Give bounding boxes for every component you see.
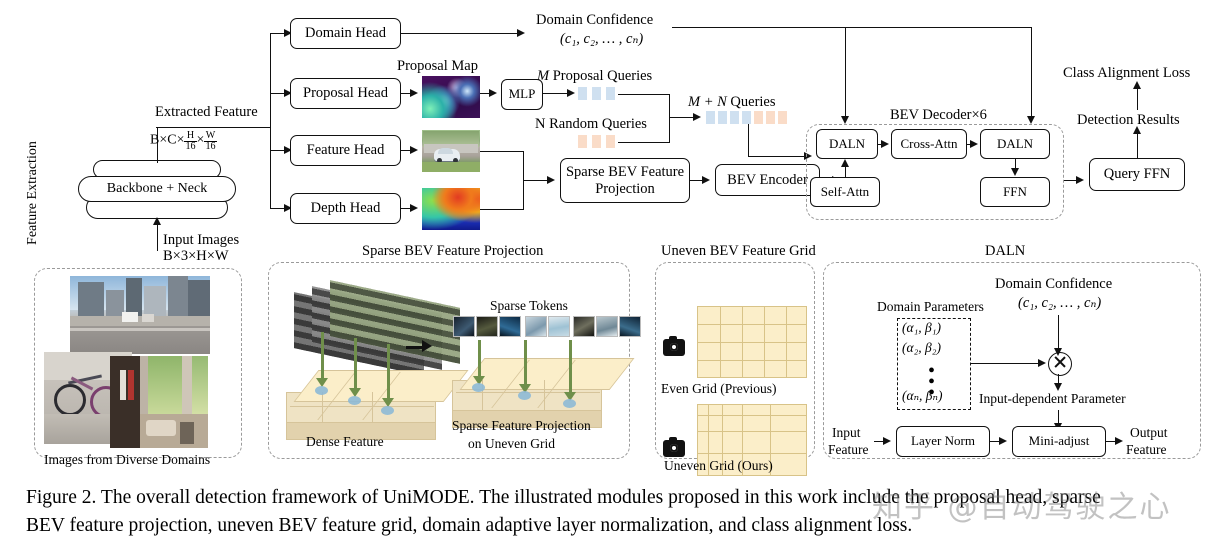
output-feature-arrowhead (1115, 437, 1123, 445)
token-mn-proposal (718, 111, 727, 124)
feature-thumb-arrowhead (410, 146, 418, 154)
proposal-queries-m: M (537, 68, 549, 84)
input-to-backbone-arrowhead (153, 217, 161, 225)
dims-mid: × (197, 133, 205, 148)
projection-drop-2 (348, 396, 361, 405)
token-mn-random (778, 111, 787, 124)
input-images-label: Input Images (163, 232, 239, 249)
domain-parameter-n: (αₙ, βₙ) (902, 388, 943, 404)
input-dependent-parameter-label: Input-dependent Parameter (979, 391, 1126, 407)
queryffn-arrowhead (1076, 176, 1084, 184)
extracted-feature-label: Extracted Feature (155, 104, 258, 121)
confidence-to-daln1-line (845, 27, 846, 119)
domain-head-label: Domain Head (305, 25, 386, 41)
extracted-feature-h-line (156, 127, 270, 128)
confidence-daln2-arrowhead (1027, 116, 1035, 124)
domain-parameter-1: (α₁, β₁) (902, 320, 941, 336)
sparse-bev-projection-line2: Projection (595, 181, 655, 197)
even-grid-label: Even Grid (Previous) (661, 381, 776, 397)
sparse-projection-arrow-2 (524, 340, 527, 386)
token-mn-proposal (706, 111, 715, 124)
domain-parameters-title: Domain Parameters (877, 299, 984, 315)
daln-domain-confidence-title: Domain Confidence (995, 276, 1112, 293)
sparse-token (499, 316, 521, 337)
token-proposal (606, 87, 615, 100)
detection-results-label: Detection Results (1077, 112, 1180, 129)
projection-drop-1 (315, 386, 328, 395)
crossattn-arrowhead (881, 140, 889, 148)
daln2-ffn-arrowhead (1011, 168, 1019, 176)
layernorm-arrowhead (883, 437, 891, 445)
sparse-token (619, 316, 641, 337)
camera-icon-even (663, 339, 685, 356)
output-feature-line1: Output (1130, 425, 1168, 441)
sparse-drop-2 (518, 391, 531, 400)
confidence-bus-line (672, 27, 1032, 28)
proposal-head-box[interactable]: Proposal Head (290, 78, 401, 109)
depth-thumb-arrowhead (410, 204, 418, 212)
domain-confidence-arrowhead (517, 29, 525, 37)
random-merge-line (618, 142, 670, 143)
confidence-to-daln2-line (1031, 27, 1032, 119)
mlp-arrowhead (489, 89, 497, 97)
token-mn-random (766, 111, 775, 124)
dense-to-sparse-arrowhead (422, 340, 432, 352)
heads-trunk-line (270, 33, 271, 208)
sparse-token (476, 316, 498, 337)
figure-canvas: Feature Extraction Backbone + Neck Input… (0, 0, 1226, 547)
daln-1-box[interactable]: DALN (816, 129, 878, 159)
mini-adjust-label: Mini-adjust (1029, 434, 1090, 449)
projection-drop-3 (381, 406, 394, 415)
feature-head-label: Feature Head (307, 142, 385, 158)
sparse-projection-caption-line1: Sparse Feature Projection (452, 418, 591, 434)
daln-2-box[interactable]: DALN (980, 129, 1050, 159)
daln-2-label: DALN (997, 137, 1033, 152)
uneven-grid-label: Uneven Grid (Ours) (664, 458, 773, 474)
cross-attn-label: Cross-Attn (900, 137, 957, 152)
mn-to-decoder-v (748, 124, 749, 156)
token-mn-proposal (730, 111, 739, 124)
mn-queries-arrowhead (693, 113, 701, 121)
dense-feature-label: Dense Feature (306, 434, 384, 450)
sparse-token (548, 316, 570, 337)
proposal-queries-label: M Proposal Queries (537, 68, 652, 85)
token-proposal (592, 87, 601, 100)
layer-norm-label: Layer Norm (911, 434, 975, 449)
sparse-token (573, 316, 595, 337)
sparse-bev-projection-box[interactable]: Sparse BEV Feature Projection (560, 158, 690, 203)
class-alignment-loss-label: Class Alignment Loss (1063, 65, 1190, 82)
domain-head-box[interactable]: Domain Head (290, 18, 401, 49)
mlp-label: MLP (509, 87, 536, 102)
feature-thumb-out-line (480, 151, 524, 152)
merge-to-sparse-line (523, 180, 549, 181)
proposal-queries-arrowhead (567, 89, 575, 97)
miniadjust-arrowhead (999, 437, 1007, 445)
input-dims-text: B×3×H×W (163, 248, 229, 264)
bev-decoder-title: BEV Decoder×6 (890, 107, 987, 124)
camera-icon-uneven (663, 440, 685, 457)
token-random (606, 135, 615, 148)
zhihu-watermark: 知乎 @自动驾驶之心 (872, 482, 1172, 526)
sparse-token (453, 316, 475, 337)
results-to-loss-line (1137, 88, 1138, 110)
token-proposal (578, 87, 587, 100)
mn-to-decoder-h (748, 156, 806, 157)
self-attn-label: Self-Attn (821, 185, 869, 200)
query-ffn-label: Query FFN (1104, 166, 1170, 182)
dims-prefix: B×C× (150, 133, 184, 148)
feature-head-box[interactable]: Feature Head (290, 135, 401, 166)
depth-thumb-out-line (480, 209, 524, 210)
proposal-map-thumbnail (422, 76, 480, 118)
mini-adjust-box[interactable]: Mini-adjust (1012, 426, 1106, 457)
input-images-dims: B×3×H×W (163, 248, 229, 265)
sparse-tokens-label: Sparse Tokens (490, 298, 568, 314)
selfattn-daln1-arrowhead (841, 159, 849, 167)
dense-projection-arrow-3 (387, 344, 390, 400)
indoor-room-image (110, 356, 208, 448)
proposal-map-label: Proposal Map (397, 58, 478, 75)
cross-attn-box[interactable]: Cross-Attn (891, 129, 967, 159)
depth-head-label: Depth Head (311, 200, 381, 216)
street-scene-image (70, 276, 210, 354)
domain-head-to-confidence-line (401, 33, 519, 34)
dense-feature-planes (294, 292, 464, 372)
daln-domain-confidence-values: (c₁, c₂, … , cₙ) (1018, 295, 1101, 312)
query-ffn-box[interactable]: Query FFN (1089, 158, 1185, 191)
extracted-feature-dims: B×C×H16×W16 (150, 131, 217, 153)
token-mn-random (754, 111, 763, 124)
dense-projection-arrow-1 (321, 332, 324, 380)
class-alignment-loss-arrowhead (1133, 81, 1141, 89)
sparse-panel-title: Sparse BEV Feature Projection (362, 243, 543, 260)
diverse-domains-caption: Images from Diverse Domains (44, 452, 210, 468)
domain-confidence-title: Domain Confidence (536, 12, 653, 29)
sparse-token (525, 316, 547, 337)
depth-head-box[interactable]: Depth Head (290, 193, 401, 224)
multiply-operator-icon (1048, 352, 1072, 376)
input-feature-line2: Feature (828, 442, 868, 458)
mn-queries-text: Queries (727, 94, 776, 110)
dims-den2: 16 (204, 142, 216, 152)
token-mn-proposal (742, 111, 751, 124)
token-random (578, 135, 587, 148)
layer-norm-box[interactable]: Layer Norm (896, 426, 990, 457)
token-random (592, 135, 601, 148)
random-queries-label: N Random Queries (535, 116, 647, 133)
even-grid (697, 306, 807, 378)
grid-panel-title: Uneven BEV Feature Grid (661, 243, 816, 260)
sparse-projection-arrow-3 (569, 340, 572, 394)
input-to-backbone-line (157, 224, 158, 251)
proposal-head-label: Proposal Head (303, 85, 388, 101)
mlp-to-queries-line (543, 93, 569, 94)
confidence-to-otimes-line (1058, 315, 1059, 351)
backbone-neck-box[interactable]: Backbone + Neck (78, 176, 236, 202)
selfattn-to-daln1-line (845, 166, 846, 178)
confidence-daln1-arrowhead (841, 116, 849, 124)
sparse-bev-projection-line1: Sparse BEV Feature (566, 164, 684, 180)
proposal-queries-text: Proposal Queries (549, 68, 652, 84)
feature-head-thumbnail (422, 130, 480, 172)
domain-parameter-2: (α₂, β₂) (902, 340, 941, 356)
dims-den1: 16 (184, 142, 196, 152)
daln-1-label: DALN (829, 137, 865, 152)
bev-encoder-box[interactable]: BEV Encoder (715, 164, 820, 196)
sparse-projection-caption-line2: on Uneven Grid (468, 436, 555, 452)
output-feature-line2: Feature (1126, 442, 1166, 458)
sparse-drop-1 (472, 383, 485, 392)
params-otimes-arrowhead (1038, 359, 1046, 367)
merge-to-mn-line (669, 117, 695, 118)
sparse-projection-arrow-1 (478, 340, 481, 378)
daln-panel-title: DALN (985, 243, 1025, 260)
input-feature-line1: Input (832, 425, 861, 441)
bev-encoder-arrowhead (702, 176, 710, 184)
bev-encoder-label: BEV Encoder (727, 172, 808, 188)
proposal-map-arrowhead (410, 89, 418, 97)
sparse-proj-arrowhead (547, 176, 555, 184)
params-to-otimes-line (971, 363, 1040, 364)
sparse-drop-3 (563, 399, 576, 408)
otimes-param-arrowhead (1054, 383, 1062, 391)
mn-queries-label: M + N Queries (688, 94, 776, 111)
mn-queries-mn: M + N (688, 94, 727, 110)
depth-head-thumbnail (422, 188, 480, 230)
backbone-neck-label: Backbone + Neck (107, 181, 207, 197)
feature-extraction-side-label: Feature Extraction (25, 113, 41, 273)
domain-confidence-values: (c₁, c₂, … , cₙ) (560, 31, 643, 48)
ffn-box[interactable]: FFN (980, 177, 1050, 207)
daln2-arrowhead (970, 140, 978, 148)
ffn-label: FFN (1003, 185, 1027, 200)
proposal-merge-line (618, 94, 670, 95)
queryffn-to-results-line (1137, 133, 1138, 159)
sparse-token (596, 316, 618, 337)
self-attn-box[interactable]: Self-Attn (810, 177, 880, 207)
dense-projection-arrow-2 (354, 338, 357, 390)
